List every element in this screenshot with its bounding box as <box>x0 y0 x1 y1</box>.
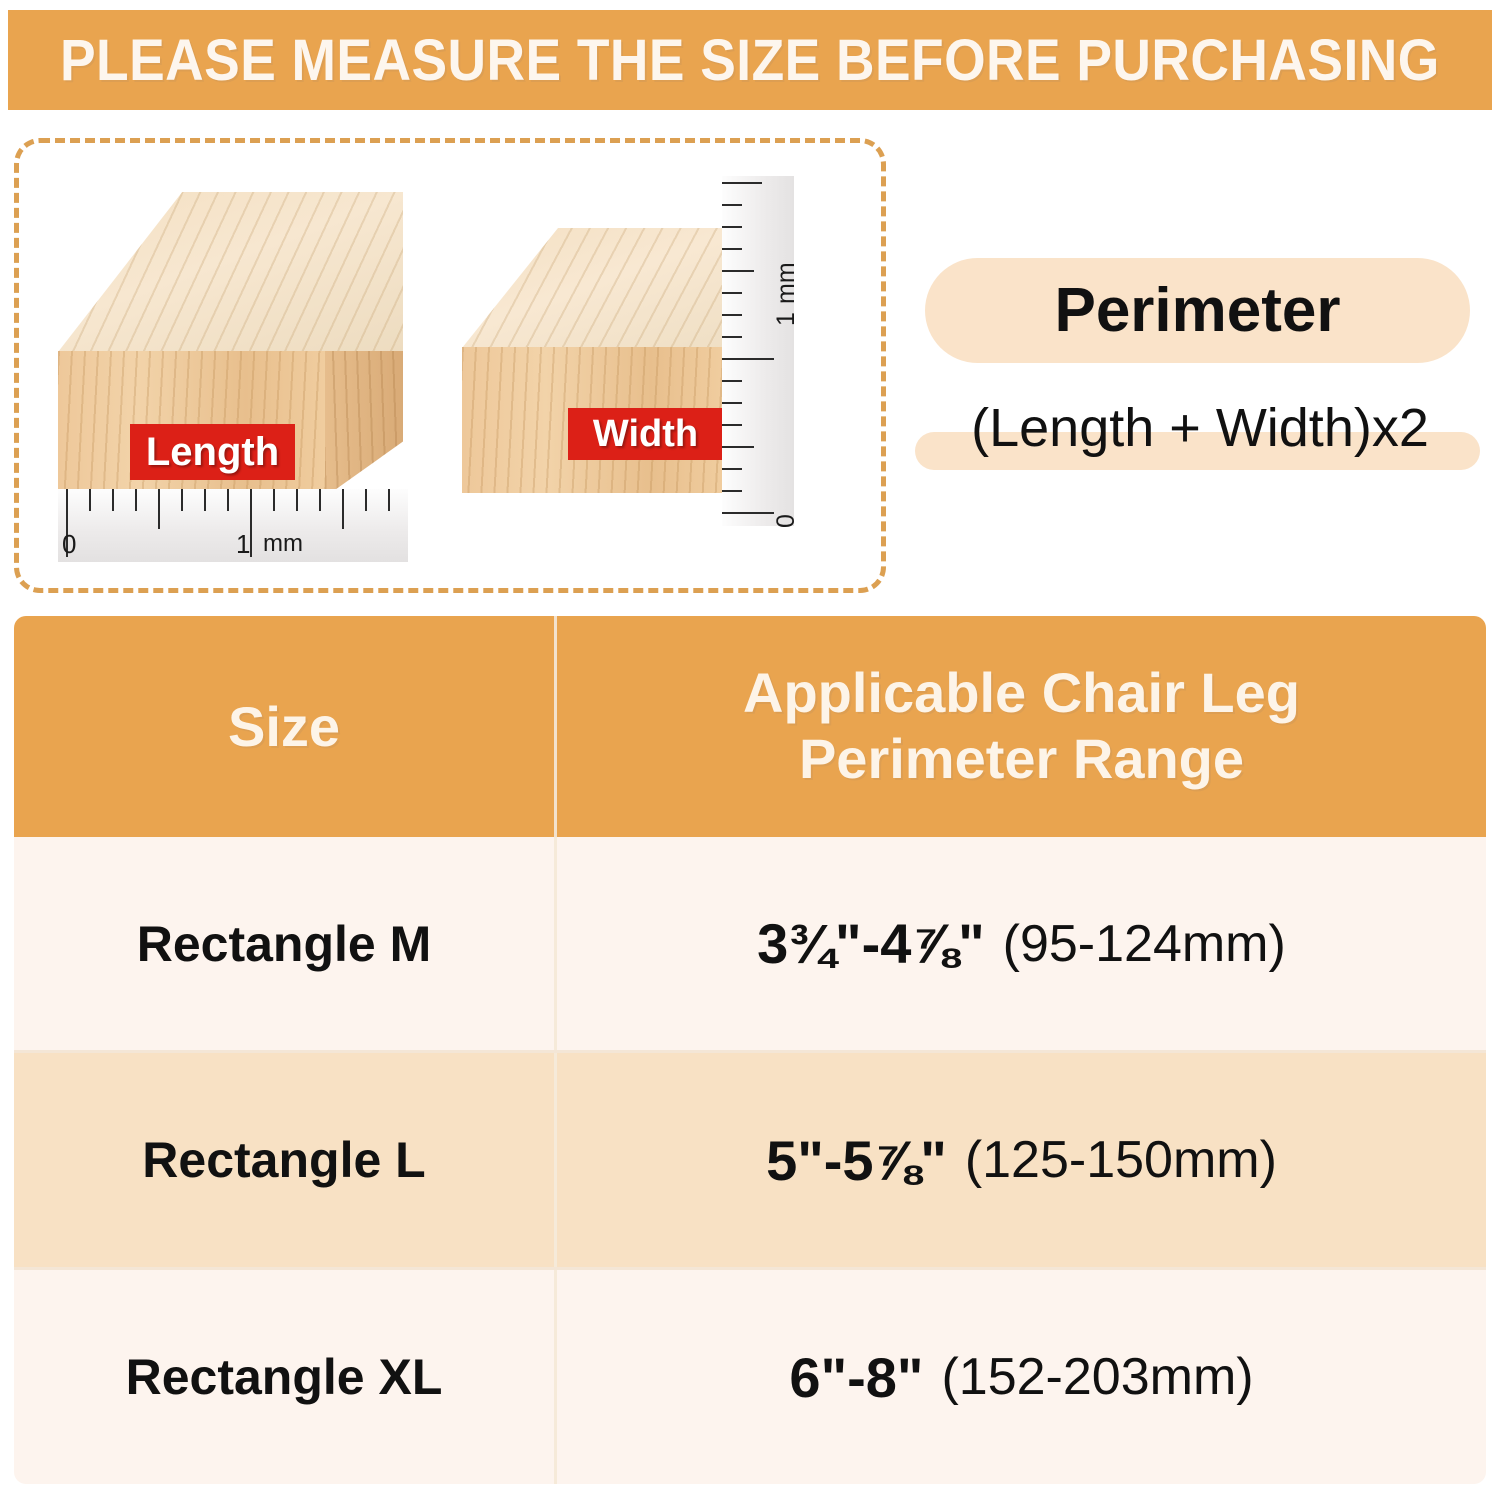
block-top-face <box>58 192 403 352</box>
header-banner: PLEASE MEASURE THE SIZE BEFORE PURCHASIN… <box>8 10 1492 110</box>
header-range-line1: Applicable Chair Leg <box>743 660 1300 726</box>
width-label: Width <box>568 408 723 460</box>
horizontal-ruler: 0 1 mm <box>58 489 408 562</box>
ruler-mark-0: 0 <box>62 529 76 560</box>
ruler-mark-1: 1 <box>772 312 801 326</box>
ruler-mark-0: 0 <box>772 514 801 528</box>
range-mm: (95-124mm) <box>985 914 1286 974</box>
banner-title: PLEASE MEASURE THE SIZE BEFORE PURCHASIN… <box>60 27 1440 94</box>
header-range-line2: Perimeter Range <box>743 726 1300 792</box>
perimeter-formula: (Length + Width)x2 <box>905 392 1495 464</box>
block-top-face <box>462 228 762 348</box>
table-row: Rectangle XL 6"-8" (152-203mm) <box>14 1270 1486 1484</box>
range-mm: (152-203mm) <box>923 1347 1253 1407</box>
header-cell-range: Applicable Chair Leg Perimeter Range <box>557 616 1486 837</box>
table-row: Rectangle L 5"-5⅞" (125-150mm) <box>14 1053 1486 1267</box>
length-label: Length <box>130 424 295 480</box>
cell-range: 6"-8" (152-203mm) <box>557 1270 1486 1484</box>
table-header-row: Size Applicable Chair Leg Perimeter Rang… <box>14 616 1486 837</box>
size-table: Size Applicable Chair Leg Perimeter Rang… <box>14 616 1486 1484</box>
table-row: Rectangle M 3¾"-4⅞" (95-124mm) <box>14 837 1486 1051</box>
ruler-unit: mm <box>263 530 303 558</box>
ruler-unit: mm <box>772 262 801 304</box>
cell-size: Rectangle XL <box>14 1270 554 1484</box>
cell-range: 3¾"-4⅞" (95-124mm) <box>557 837 1486 1051</box>
ruler-mark-1: 1 <box>236 529 250 560</box>
header-cell-size: Size <box>14 616 554 837</box>
block-side-face <box>325 351 403 497</box>
cell-range: 5"-5⅞" (125-150mm) <box>557 1053 1486 1267</box>
range-inches: 3¾"-4⅞" <box>757 911 984 976</box>
range-inches: 5"-5⅞" <box>766 1128 947 1193</box>
perimeter-pill: Perimeter <box>925 258 1470 363</box>
cell-size: Rectangle M <box>14 837 554 1051</box>
cell-size: Rectangle L <box>14 1053 554 1267</box>
range-inches: 6"-8" <box>789 1345 923 1410</box>
range-mm: (125-150mm) <box>947 1130 1277 1190</box>
infographic-page: PLEASE MEASURE THE SIZE BEFORE PURCHASIN… <box>0 0 1500 1500</box>
vertical-ruler: 1 mm 0 <box>722 176 794 526</box>
perimeter-title: Perimeter <box>1054 275 1340 346</box>
width-wood-block <box>462 228 762 518</box>
